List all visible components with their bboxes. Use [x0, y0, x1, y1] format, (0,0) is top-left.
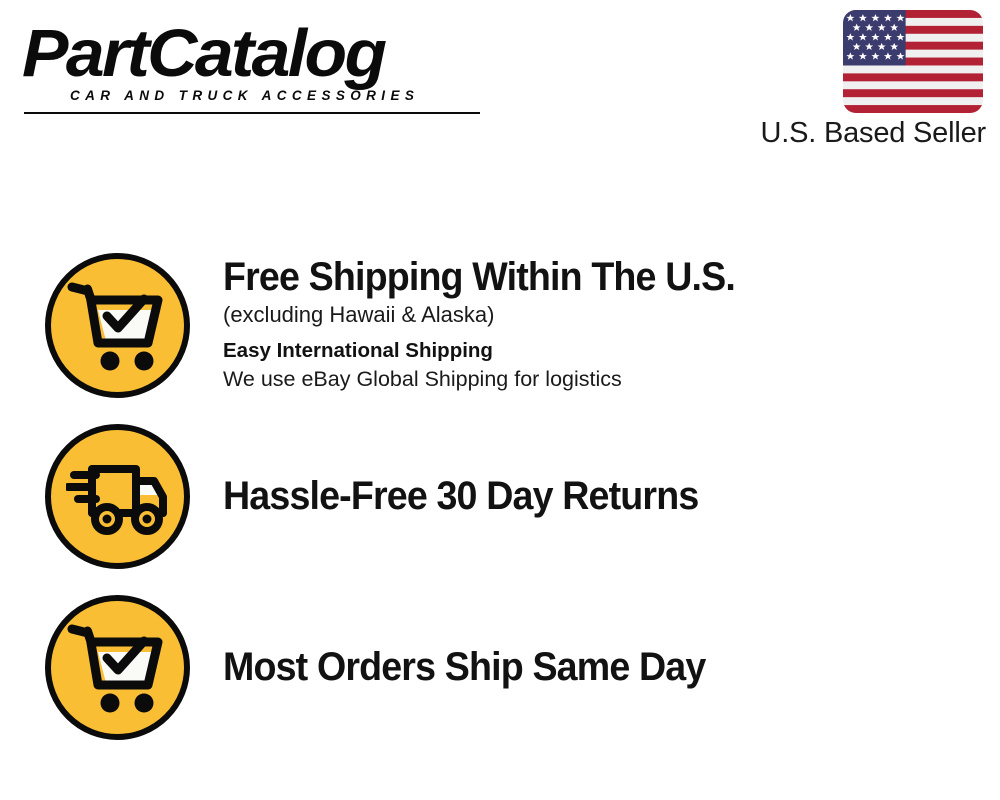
feature-subtitle: (excluding Hawaii & Alaska): [223, 301, 768, 329]
feature-row: Free Shipping Within The U.S. (excluding…: [0, 250, 1000, 400]
us-flag-icon: [843, 10, 983, 113]
feature-title: Hassle-Free 30 Day Returns: [223, 475, 698, 517]
shopping-cart-check-icon: [45, 595, 190, 740]
feature-secondary-text: We use eBay Global Shipping for logistic…: [223, 366, 768, 394]
feature-row: Hassle-Free 30 Day Returns: [0, 421, 1000, 571]
page-header: PartCatalog CAR AND TRUCK ACCESSORIES: [0, 0, 1000, 175]
brand-underline-rule: [24, 112, 480, 114]
brand-logo[interactable]: PartCatalog CAR AND TRUCK ACCESSORIES: [22, 22, 492, 103]
feature-row: Most Orders Ship Same Day: [0, 592, 1000, 742]
brand-wordmark: PartCatalog: [22, 22, 511, 86]
feature-title: Free Shipping Within The U.S.: [223, 256, 735, 298]
feature-text-block: Most Orders Ship Same Day: [223, 646, 736, 688]
feature-title: Most Orders Ship Same Day: [223, 646, 705, 688]
feature-text-block: Free Shipping Within The U.S. (excluding…: [223, 256, 768, 394]
feature-secondary-heading: Easy International Shipping: [223, 338, 768, 365]
shopping-cart-check-icon: [45, 253, 190, 398]
delivery-truck-icon: [45, 424, 190, 569]
feature-text-block: Hassle-Free 30 Day Returns: [223, 475, 729, 517]
us-based-seller-label: U.S. Based Seller: [761, 117, 987, 150]
